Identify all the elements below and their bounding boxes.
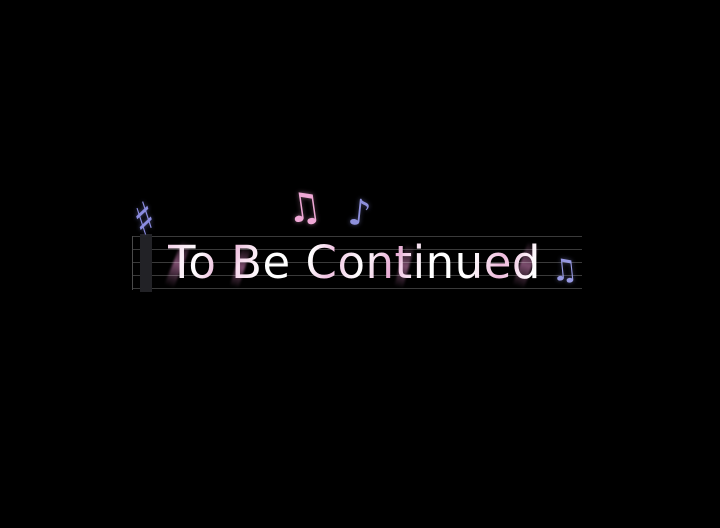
beamed-eighth-notes-pink-icon: ♫ — [283, 186, 324, 231]
staff-barline — [132, 236, 133, 290]
title-text: To Be Continued — [168, 237, 541, 289]
title-card-screen: ♯ ♫ ♪ ♫ To Be Continued — [0, 0, 720, 528]
eighth-note-blue-icon: ♪ — [346, 195, 373, 233]
beamed-eighth-notes-blue-icon: ♫ — [550, 255, 580, 288]
